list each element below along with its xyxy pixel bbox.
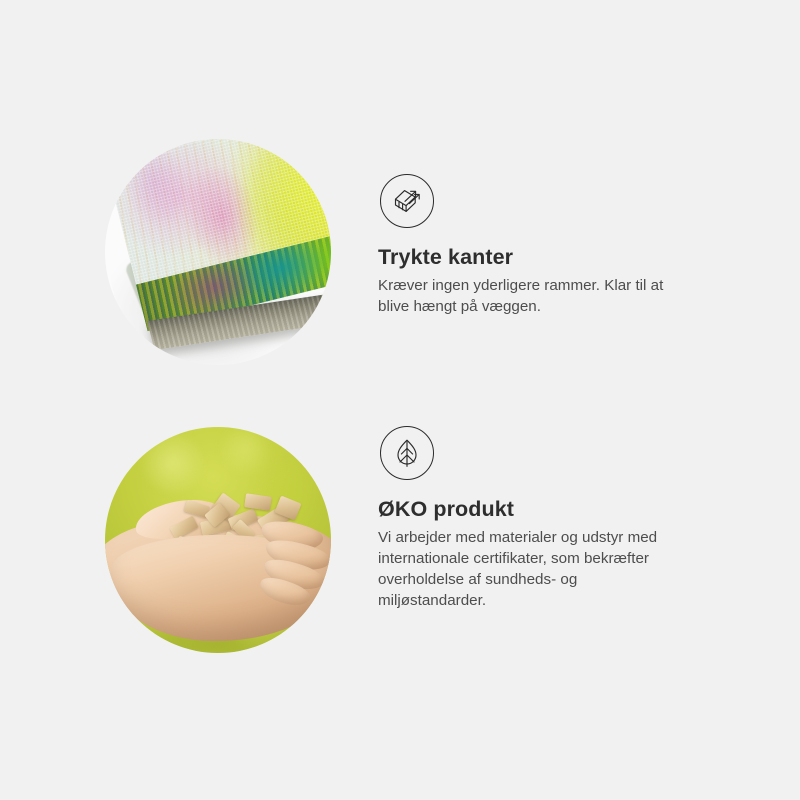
product-features-page: Trykte kanter Kræver ingen yderligere ra… — [0, 0, 800, 800]
photo-circle-eco — [105, 427, 331, 653]
feature-title: Trykte kanter — [378, 246, 772, 270]
feature-title: ØKO produkt — [378, 498, 772, 522]
canvas-print-corner-photo — [105, 139, 331, 365]
leaf-icon — [380, 426, 434, 480]
feature-printed-edges: Trykte kanter Kræver ingen yderligere ra… — [0, 130, 800, 380]
feature-eco-product: ØKO produkt Vi arbejder med materialer o… — [0, 418, 800, 668]
photo-circle-canvas — [105, 139, 331, 365]
feature-text-printed-edges: Trykte kanter Kræver ingen yderligere ra… — [378, 130, 772, 318]
feature-description: Vi arbejder med materialer og udstyr med… — [378, 528, 750, 612]
feature-description: Kræver ingen yderligere rammer. Klar til… — [378, 276, 750, 318]
canvas-wrapped-edge-icon — [380, 174, 434, 228]
fingers-right — [255, 519, 331, 611]
feature-text-eco-product: ØKO produkt Vi arbejder med materialer o… — [378, 418, 772, 612]
hands-holding-wood-chips-photo — [105, 427, 331, 653]
